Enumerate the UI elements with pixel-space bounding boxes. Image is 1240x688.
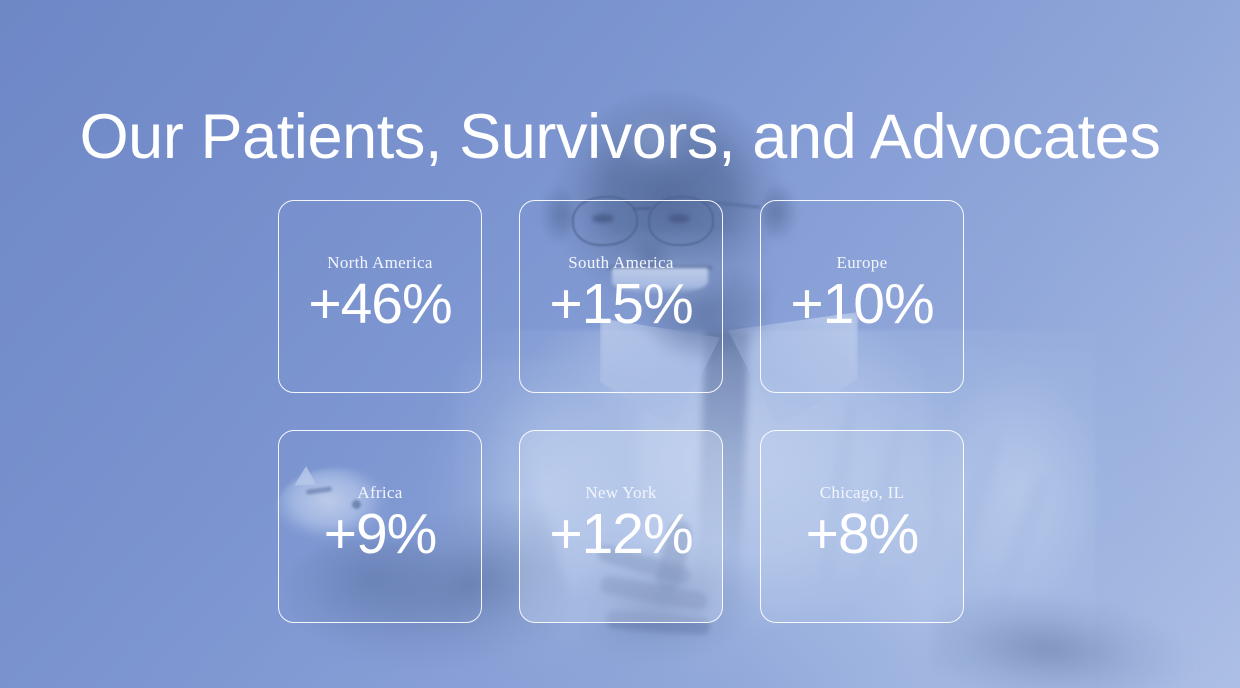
stat-card-africa[interactable]: Africa +9% <box>278 430 482 623</box>
stat-card-europe[interactable]: Europe +10% <box>760 200 964 393</box>
stat-card-label: Africa <box>357 483 402 503</box>
page-title: Our Patients, Survivors, and Advocates <box>0 104 1240 170</box>
stat-card-value: +10% <box>790 275 933 335</box>
stat-card-label: South America <box>568 253 673 273</box>
stats-grid: North America +46% South America +15% Eu… <box>278 200 964 623</box>
stat-card-value: +8% <box>806 505 919 565</box>
stat-card-label: Europe <box>837 253 888 273</box>
stat-card-label: New York <box>585 483 656 503</box>
stat-card-value: +15% <box>549 275 692 335</box>
stat-card-value: +12% <box>549 505 692 565</box>
stat-card-value: +9% <box>324 505 437 565</box>
stat-card-south-america[interactable]: South America +15% <box>519 200 723 393</box>
stat-card-label: North America <box>327 253 432 273</box>
stat-card-north-america[interactable]: North America +46% <box>278 200 482 393</box>
stat-card-label: Chicago, IL <box>820 483 905 503</box>
stat-card-chicago[interactable]: Chicago, IL +8% <box>760 430 964 623</box>
stat-card-value: +46% <box>308 275 451 335</box>
slide-content: Our Patients, Survivors, and Advocates N… <box>0 0 1240 688</box>
slide-container: Our Patients, Survivors, and Advocates N… <box>0 0 1240 688</box>
stat-card-new-york[interactable]: New York +12% <box>519 430 723 623</box>
